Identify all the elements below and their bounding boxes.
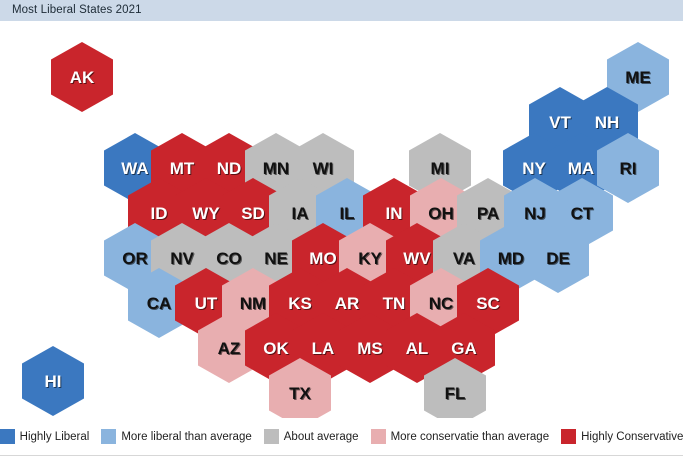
legend-swatch-icon <box>0 429 15 444</box>
state-label: MI <box>431 160 450 177</box>
state-label: ID <box>151 205 168 222</box>
state-label: FL <box>445 385 466 402</box>
state-label: ME <box>625 69 651 86</box>
legend-label: More conservatie than average <box>391 431 550 443</box>
state-label: WY <box>192 205 219 222</box>
state-label: IL <box>339 205 354 222</box>
hex-tile-map-chart: Most Liberal States 2021 AKMEVTNHWAMTNDM… <box>0 0 683 456</box>
state-label: OR <box>122 250 148 267</box>
state-label: MT <box>170 160 195 177</box>
state-label: UT <box>195 295 218 312</box>
state-label: IA <box>292 205 309 222</box>
state-label: NE <box>264 250 288 267</box>
state-label: MD <box>498 250 524 267</box>
state-label: NM <box>240 295 266 312</box>
legend-swatch-icon <box>371 429 386 444</box>
legend-item-about-average[interactable]: About average <box>264 429 359 444</box>
state-hex-ak[interactable]: AK <box>51 42 113 112</box>
state-label: RI <box>620 160 637 177</box>
state-label: CT <box>571 205 594 222</box>
legend: Highly LiberalMore liberal than averageA… <box>0 418 683 456</box>
state-label: WA <box>121 160 148 177</box>
state-label: TX <box>289 385 311 402</box>
state-label: LA <box>312 340 335 357</box>
state-label: NJ <box>524 205 546 222</box>
state-label: PA <box>477 205 499 222</box>
state-label: MA <box>568 160 594 177</box>
state-label: AZ <box>218 340 241 357</box>
legend-label: About average <box>284 431 359 443</box>
title-bar: Most Liberal States 2021 <box>0 0 683 21</box>
state-label: SD <box>241 205 265 222</box>
state-label: OH <box>428 205 454 222</box>
state-label: SC <box>476 295 500 312</box>
state-label: AL <box>406 340 429 357</box>
state-label: CA <box>147 295 172 312</box>
state-label: VT <box>549 114 571 131</box>
legend-label: More liberal than average <box>121 431 251 443</box>
state-label: KS <box>288 295 312 312</box>
state-label: NH <box>595 114 620 131</box>
state-label: GA <box>451 340 477 357</box>
state-label: ND <box>217 160 242 177</box>
legend-item-more-conservative[interactable]: More conservatie than average <box>371 429 550 444</box>
legend-swatch-icon <box>101 429 116 444</box>
state-label: NV <box>170 250 194 267</box>
state-label: MS <box>357 340 383 357</box>
state-label: NY <box>522 160 546 177</box>
legend-label: Highly Liberal <box>20 431 90 443</box>
us-hex-tile-map: AKMEVTNHWAMTNDMNWIMINYMARIIDWYSDIAILINOH… <box>0 21 683 418</box>
state-label: AK <box>70 69 95 86</box>
state-label: WI <box>313 160 334 177</box>
state-label: NC <box>429 295 454 312</box>
state-label: MN <box>263 160 289 177</box>
state-label: WV <box>403 250 430 267</box>
legend-swatch-icon <box>561 429 576 444</box>
legend-item-highly-conservative[interactable]: Highly Conservative <box>561 429 683 444</box>
state-label: AR <box>335 295 360 312</box>
state-label: CO <box>216 250 242 267</box>
legend-swatch-icon <box>264 429 279 444</box>
state-label: TN <box>383 295 406 312</box>
legend-item-more-liberal[interactable]: More liberal than average <box>101 429 251 444</box>
legend-item-highly-liberal[interactable]: Highly Liberal <box>0 429 89 444</box>
state-label: VA <box>453 250 475 267</box>
page-title: Most Liberal States 2021 <box>12 4 142 16</box>
state-label: IN <box>386 205 403 222</box>
state-label: OK <box>263 340 289 357</box>
state-label: MO <box>309 250 336 267</box>
state-hex-hi[interactable]: HI <box>22 346 84 416</box>
state-label: HI <box>45 373 62 390</box>
legend-label: Highly Conservative <box>581 431 683 443</box>
state-label: DE <box>546 250 570 267</box>
state-label: KY <box>358 250 382 267</box>
